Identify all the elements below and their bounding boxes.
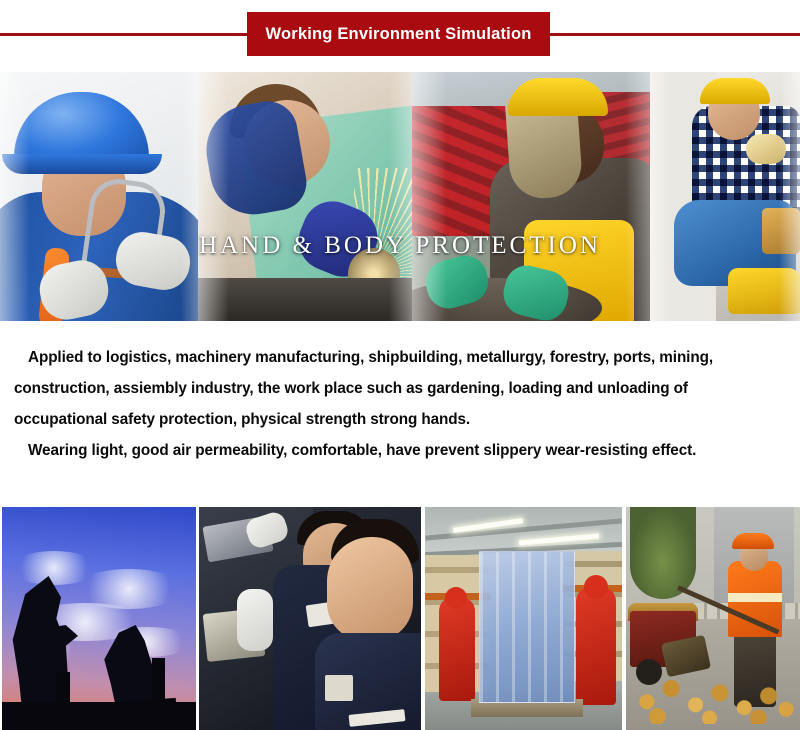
product-detail-page: Working Environment Simulation — [0, 0, 800, 730]
hero1-hard-hat-brim — [2, 154, 162, 174]
hero3-drum — [412, 278, 602, 321]
gallery3-shrink-wrapped-load — [479, 551, 575, 703]
gallery3-worker-red-overalls-left — [439, 597, 475, 701]
gallery4-vest-reflective-band — [728, 593, 782, 602]
hero3-yellow-hard-hat — [508, 78, 608, 116]
hero1-hacksaw-frame — [79, 175, 169, 289]
hero4-yellow-cap — [700, 78, 770, 104]
gallery4-fallen-leaves — [626, 650, 800, 724]
hero1-work-glove-right — [112, 228, 194, 294]
hero2-grinder-disc — [348, 248, 400, 300]
hero3-welding-hood — [504, 92, 583, 201]
hero3-green-glove-right — [499, 261, 573, 321]
hero-image-worker-grinding — [198, 72, 420, 321]
hero2-blue-face-shield — [199, 97, 311, 222]
hero4-jeans — [674, 200, 796, 286]
hero1-orange-saw-handle — [38, 247, 70, 321]
hero3-red-machinery-upper — [520, 92, 660, 174]
hero3-red-machinery — [412, 106, 584, 236]
description-paragraph-1: Applied to logistics, machinery manufact… — [14, 342, 782, 435]
page-title: Working Environment Simulation — [265, 25, 531, 44]
gallery3-worker-left-cap — [445, 587, 467, 609]
hero2-work-table — [198, 278, 420, 321]
hero1-work-glove-left — [35, 256, 113, 321]
gallery-image-warehouse — [425, 507, 622, 730]
hero1-blue-coveralls — [0, 192, 210, 321]
gallery3-worker-red-overalls-right — [576, 587, 616, 705]
hero2-green-coat — [238, 103, 420, 321]
hero1-background — [0, 72, 210, 321]
hero4-tool-pouch — [762, 208, 800, 254]
hero4-plaid-shirt — [692, 106, 800, 228]
hero2-grinding-sparks — [354, 168, 420, 298]
hero1-saw-blade — [44, 264, 166, 281]
hero3-background — [412, 72, 660, 321]
hero-image-collage: HAND & BODY PROTECTION — [0, 72, 800, 321]
hero2-face — [244, 100, 330, 186]
hero2-background — [198, 72, 420, 321]
hero4-wall — [650, 72, 716, 321]
gallery-image-mechanics — [199, 507, 421, 730]
gallery2-worker2-badge — [325, 675, 353, 701]
hero1-blue-hard-hat — [14, 92, 149, 170]
hero1-face — [42, 144, 126, 236]
gallery4-tree — [630, 507, 696, 599]
application-gallery — [0, 507, 800, 730]
product-description: Applied to logistics, machinery manufact… — [0, 330, 800, 505]
description-paragraph-2: Wearing light, good air permeability, co… — [14, 435, 782, 466]
gallery1-ground — [2, 702, 196, 730]
section-header: Working Environment Simulation — [0, 0, 800, 70]
gallery4-orange-cap — [732, 533, 774, 549]
hero4-yellow-boot — [728, 268, 800, 314]
hero4-glove — [746, 134, 786, 164]
hero2-hair — [230, 84, 322, 138]
hero-image-worker-plaid — [650, 72, 800, 321]
gallery2-white-glove-lower — [237, 589, 273, 651]
gallery-image-construction-silhouette — [2, 507, 196, 730]
hero2-blue-glove — [290, 192, 387, 285]
hero3-green-glove-left — [421, 250, 494, 313]
hero3-yellow-apron — [524, 220, 634, 321]
hero4-face — [708, 86, 760, 140]
hero-image-worker-sawing — [0, 72, 210, 321]
hero-image-worker-apron — [412, 72, 660, 321]
hero3-jacket — [490, 158, 660, 321]
header-title-plate: Working Environment Simulation — [247, 12, 550, 56]
hero4-background — [650, 72, 800, 321]
gallery2-worker2-face — [327, 537, 413, 641]
hero3-face — [530, 106, 604, 184]
gallery-image-street-sweeper — [626, 507, 800, 730]
gallery3-worker-right-cap — [584, 575, 608, 599]
